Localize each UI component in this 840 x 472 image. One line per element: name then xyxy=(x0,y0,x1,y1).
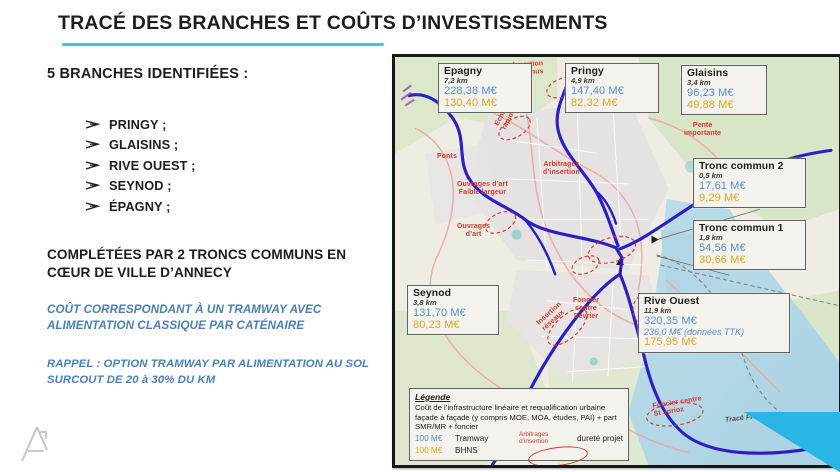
branch-label: PRINGY ; xyxy=(109,117,166,132)
corner-triangle-decoration xyxy=(744,412,840,472)
branch-cost-tram: 320,35 M€ xyxy=(644,316,784,328)
branch-length: 3,8 km xyxy=(413,299,493,307)
list-item: ÉPAGNY ; xyxy=(86,196,196,217)
branch-cost-bhns: 80,23 M€ xyxy=(413,320,493,332)
legend-red-marker-tail: dureté projet xyxy=(577,434,623,443)
list-item: RIVE OUEST ; xyxy=(86,155,196,176)
title-underline-rule xyxy=(62,43,384,46)
branch-cost-bhns: 82,32 M€ xyxy=(571,98,653,110)
arrow-bullet-icon xyxy=(86,201,100,212)
branch-length: 3,4 km xyxy=(687,79,761,87)
cost-box-tronc-commun-1[interactable]: Tronc commun 1 1,8 km 54,56 M€ 30,66 M€ xyxy=(693,220,806,270)
cost-box-seynod[interactable]: Seynod 3,8 km 131,70 M€ 80,23 M€ xyxy=(407,285,499,335)
map-annotation-arbitrages-insertion: Arbitrages d’insertion xyxy=(543,161,580,177)
branch-cost-bhns: 9,29 M€ xyxy=(699,193,800,205)
branch-list: PRINGY ; GLAISINS ; RIVE OUEST ; SEYNOD … xyxy=(86,114,196,217)
branch-label: GLAISINS ; xyxy=(109,137,178,152)
legend-title: Légende xyxy=(415,392,623,402)
map-annotation-ponts: Ponts xyxy=(437,153,457,161)
slide-root: TRACÉ DES BRANCHES ET COÛTS D’INVESTISSE… xyxy=(0,0,840,472)
map-annotation-ouvrages-art-faible-largeur: Ouvrages d’art Faible largeur xyxy=(457,181,508,197)
cost-basis-note: COÛT CORRESPONDANT À UN TRAMWAY AVEC ALI… xyxy=(47,302,392,334)
branch-cost-bhns: 130,40 M€ xyxy=(444,98,526,110)
branch-label: RIVE OUEST ; xyxy=(109,158,196,173)
branch-cost-tram: 131,70 M€ xyxy=(413,308,493,320)
branch-cost-bhns: 175,95 M€ xyxy=(644,337,784,349)
branch-label: SEYNOD ; xyxy=(109,178,172,193)
legend-red-marker-label: Arbitrages d’insertion xyxy=(519,432,571,445)
map-legend: Légende Coût de l’infrastructure linéair… xyxy=(409,388,629,461)
branches-heading: 5 BRANCHES IDENTIFIÉES : xyxy=(47,66,248,82)
map-annotation-pente-importante: Pente importante xyxy=(684,122,721,138)
ground-power-option-note: RAPPEL : OPTION TRAMWAY PAR ALIMENTATION… xyxy=(47,357,397,388)
troncs-communs-statement: COMPLÉTÉES PAR 2 TRONCS COMMUNS EN CŒUR … xyxy=(47,246,387,282)
legend-mode: BHNS xyxy=(455,446,513,455)
branch-cost-tram: 147,40 M€ xyxy=(571,86,653,98)
branch-label: ÉPAGNY ; xyxy=(109,199,170,214)
legend-description: Coût de l’infrastructure linéaire et req… xyxy=(415,403,623,432)
map-annotation-ouvrages-art: Ouvrages d’art xyxy=(457,223,490,239)
legend-mode: Tramway xyxy=(455,434,513,443)
branch-length: 1,8 km xyxy=(699,234,800,242)
branch-length: 7,2 km xyxy=(444,77,526,85)
arrow-bullet-icon xyxy=(86,180,100,191)
branch-length: 4,9 km xyxy=(571,77,653,85)
branch-cost-tram: 17,61 M€ xyxy=(699,181,800,193)
branch-length: 0,5 km xyxy=(699,172,800,180)
arrow-bullet-icon xyxy=(86,139,100,150)
branch-cost-bhns: 30,66 M€ xyxy=(699,255,800,267)
cost-box-glaisins[interactable]: Glaisins 3,4 km 96,23 M€ 49,88 M€ xyxy=(681,65,767,115)
branch-length: 11,9 km xyxy=(644,307,784,315)
branch-cost-bhns: 49,88 M€ xyxy=(687,100,761,112)
legend-row-tramway: 100 M€ Tramway Arbitrages d’insertion du… xyxy=(415,433,623,444)
list-item: PRINGY ; xyxy=(86,114,196,135)
arrow-bullet-icon xyxy=(86,160,100,171)
cost-box-pringy[interactable]: Pringy 4,9 km 147,40 M€ 82,32 M€ xyxy=(565,63,659,113)
legend-row-bhns: 100 M€ BHNS xyxy=(415,445,623,456)
page-title: TRACÉ DES BRANCHES ET COÛTS D’INVESTISSE… xyxy=(58,12,678,34)
list-item: SEYNOD ; xyxy=(86,176,196,197)
branch-cost-tram: 228,38 M€ xyxy=(444,86,526,98)
branch-cost-tram: 96,23 M€ xyxy=(687,88,761,100)
legend-amount: 100 M€ xyxy=(415,446,449,455)
arrow-bullet-icon xyxy=(86,119,100,130)
map-annotation-foncier-centre-sevrier: Foncier centre Sévrier xyxy=(573,297,599,321)
list-item: GLAISINS ; xyxy=(86,135,196,156)
cost-box-tronc-commun-2[interactable]: Tronc commun 2 0,5 km 17,61 M€ 9,29 M€ xyxy=(693,158,806,208)
map-panel[interactable]: Insertion terminus Echangeur rapide Pont… xyxy=(392,54,840,468)
cost-box-rive-ouest[interactable]: Rive Ouest 11,9 km 320,35 M€ 236,0 M€ (d… xyxy=(638,293,790,353)
legend-amount: 100 M€ xyxy=(415,434,449,443)
annecy-a-logo-icon xyxy=(16,424,60,464)
branch-cost-tram: 54,56 M€ xyxy=(699,243,800,255)
cost-box-epagny[interactable]: Epagny 7,2 km 228,38 M€ 130,40 M€ xyxy=(438,63,532,113)
